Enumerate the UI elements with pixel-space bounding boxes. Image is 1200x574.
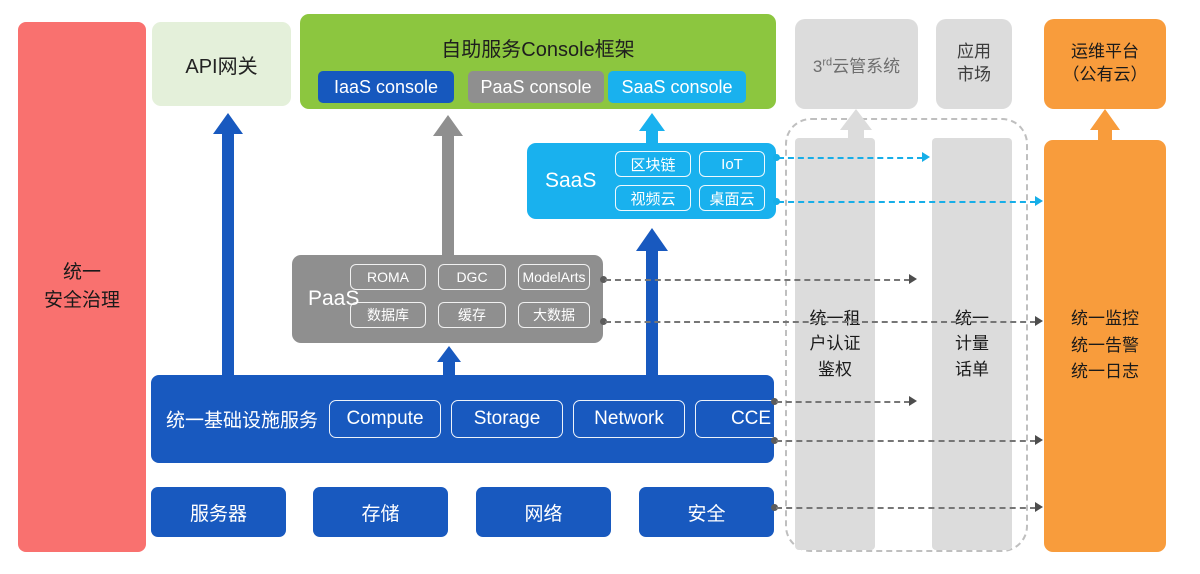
connector-arrows-layer [0, 0, 1200, 574]
arrow-saas-to-console [639, 113, 665, 143]
conn-line-saas-to-metering [778, 157, 923, 159]
arrow-shared-to-third-cloud [840, 109, 872, 142]
conn-arrowhead-paas-to-ops [1035, 316, 1043, 326]
conn-arrowhead-saas-to-ops [1035, 196, 1043, 206]
conn-line-iaas-to-auth [776, 401, 910, 403]
conn-line-saas-to-ops [778, 201, 1036, 203]
architecture-diagram: 统一 安全治理 API网关 自助服务Console框架 IaaS console… [0, 0, 1200, 574]
arrow-iaas-to-api-gateway [213, 113, 243, 375]
conn-arrowhead-hardware-to-ops [1035, 502, 1043, 512]
arrow-iaas-to-paas [437, 346, 461, 375]
arrow-paas-to-console [433, 115, 463, 255]
arrow-ops-panel-to-ops-public [1090, 109, 1120, 142]
conn-line-iaas-to-ops [776, 440, 1036, 442]
arrow-iaas-to-saas [636, 228, 668, 375]
conn-arrowhead-paas-to-auth [909, 274, 917, 284]
conn-arrowhead-saas-to-metering [922, 152, 930, 162]
conn-line-paas-to-ops [605, 321, 1036, 323]
conn-line-paas-to-auth [605, 279, 910, 281]
conn-arrowhead-iaas-to-ops [1035, 435, 1043, 445]
conn-arrowhead-iaas-to-auth [909, 396, 917, 406]
conn-line-hardware-to-ops [776, 507, 1036, 509]
